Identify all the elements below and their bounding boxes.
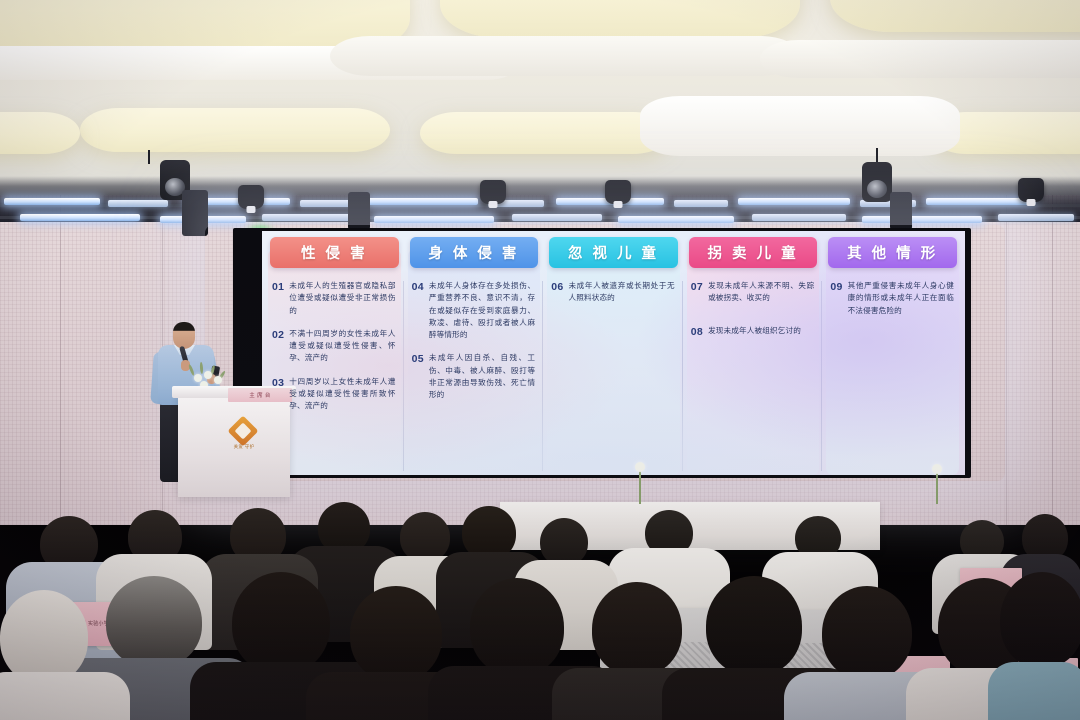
item-text: 不满十四周岁的女性未成年人遭受或疑似遭受性侵害、怀孕、流产的 xyxy=(289,328,395,365)
item-number: 05 xyxy=(412,352,424,366)
slide-item: 06 未成年人被遗弃或长期处于无人照料状态的 xyxy=(551,280,675,305)
torso xyxy=(0,672,130,720)
ceiling-rib xyxy=(760,40,1080,78)
head xyxy=(540,518,588,566)
column-header-physical-abuse: 身 体 侵 害 xyxy=(410,237,539,268)
item-text: 发现未成年人来源不明、失踪或被拐卖、收买的 xyxy=(708,280,814,305)
head xyxy=(706,576,802,676)
column-header-label: 拐 卖 儿 童 xyxy=(708,242,799,263)
spotlight-yoke xyxy=(876,148,878,162)
item-number: 01 xyxy=(272,280,284,294)
stage-spotlight xyxy=(480,180,506,204)
head xyxy=(106,576,202,668)
column-header-other: 其 他 情 形 xyxy=(828,237,957,268)
led-bar xyxy=(618,216,734,223)
item-number: 02 xyxy=(272,328,284,342)
leaf xyxy=(188,364,195,376)
presenter-head xyxy=(173,322,195,349)
item-number: 04 xyxy=(412,280,424,294)
ceiling-rib xyxy=(330,36,800,76)
head xyxy=(350,586,442,682)
item-text: 未成年人的生殖器官或隐私部位遭受或疑似遭受非正常损伤的 xyxy=(289,280,395,317)
led-bar xyxy=(374,216,494,223)
item-number: 03 xyxy=(272,376,284,390)
flower xyxy=(204,371,212,379)
slide-item: 03 十四周岁以上女性未成年人遭受或疑似遭受性侵害所致怀孕、流产的 xyxy=(272,376,396,413)
moving-head-light xyxy=(862,162,892,202)
column-header-sexual-abuse: 性 侵 害 xyxy=(270,237,399,268)
ceiling-cove-light xyxy=(830,0,1080,32)
column-header-label: 身 体 侵 害 xyxy=(428,242,519,263)
led-bar xyxy=(752,214,846,221)
column-header-neglect: 忽 视 儿 童 xyxy=(549,237,678,268)
stage-spotlight xyxy=(605,180,631,204)
head xyxy=(0,590,88,684)
head xyxy=(822,586,912,680)
item-number: 07 xyxy=(691,280,703,294)
led-bar xyxy=(4,198,100,205)
led-bar xyxy=(998,214,1074,221)
column-items: 01 未成年人的生殖器官或隐私部位遭受或疑似遭受非正常损伤的 02 不满十四周岁… xyxy=(266,268,403,413)
item-number: 09 xyxy=(830,280,842,294)
slide-item: 01 未成年人的生殖器官或隐私部位遭受或疑似遭受非正常损伤的 xyxy=(272,280,396,317)
head xyxy=(592,582,682,676)
led-bar xyxy=(20,214,140,221)
presentation-photo: 性 侵 害 01 未成年人的生殖器官或隐私部位遭受或疑似遭受非正常损伤的 02 … xyxy=(0,0,1080,720)
item-text: 发现未成年人被组织乞讨的 xyxy=(708,325,801,337)
slide-item: 04 未成年人身体存在多处损伤、严重营养不良、意识不清，存在或疑似存在受到家庭暴… xyxy=(412,280,536,341)
stage-spotlight xyxy=(1018,178,1044,202)
led-bar xyxy=(738,198,850,205)
column-header-label: 性 侵 害 xyxy=(301,242,368,263)
led-bar xyxy=(108,200,168,207)
column-header-label: 忽 视 儿 童 xyxy=(568,242,659,263)
led-bar xyxy=(674,200,728,207)
column-items: 07 发现未成年人来源不明、失踪或被拐卖、收买的 08 发现未成年人被组织乞讨的 xyxy=(685,268,822,339)
ceiling-rib xyxy=(640,96,960,156)
pa-speaker xyxy=(890,192,912,230)
item-text: 未成年人因自杀、自残、工伤、中毒、被人麻醉、殴打等非正常源由导致伤残、死亡情形的 xyxy=(429,352,535,401)
ceiling-cove-light xyxy=(440,0,800,38)
slide-item: 07 发现未成年人来源不明、失踪或被拐卖、收买的 xyxy=(691,280,815,305)
slide-item: 08 发现未成年人被组织乞讨的 xyxy=(691,325,815,339)
led-bar xyxy=(262,214,358,221)
head xyxy=(232,572,330,674)
ceiling-cove-light xyxy=(420,112,670,154)
item-number: 06 xyxy=(551,280,563,294)
ceiling-cove-light xyxy=(80,108,390,152)
flower xyxy=(214,376,222,384)
leaf xyxy=(200,362,204,374)
column-header-trafficking: 拐 卖 儿 童 xyxy=(689,237,818,268)
torso xyxy=(988,662,1080,720)
column-items: 09 其他严重侵害未成年人身心健康的情形或未成年人正在面临不法侵害危险的 xyxy=(824,268,961,317)
head xyxy=(470,578,564,676)
item-text: 十四周岁以上女性未成年人遭受或疑似遭受性侵害所致怀孕、流产的 xyxy=(289,376,395,413)
pa-speaker xyxy=(182,190,208,236)
spotlight-yoke xyxy=(148,150,150,164)
pa-speaker xyxy=(348,192,370,230)
item-number: 08 xyxy=(691,325,703,339)
head xyxy=(1000,572,1080,668)
led-bar xyxy=(368,198,478,205)
item-text: 未成年人被遗弃或长期处于无人照料状态的 xyxy=(568,280,674,305)
ceiling-cove-light xyxy=(0,112,80,154)
column-items: 04 未成年人身体存在多处损伤、严重营养不良、意识不清，存在或疑似存在受到家庭暴… xyxy=(406,268,543,402)
led-bar xyxy=(862,216,982,223)
head xyxy=(400,512,450,562)
led-bar xyxy=(512,214,602,221)
audience: 县 实验小学 城关小学 新城区实验学校 新城实验学校小学部 xyxy=(0,390,1080,720)
item-text: 未成年人身体存在多处损伤、严重营养不良、意识不清，存在或疑似存在受到家庭暴力、欺… xyxy=(429,280,535,341)
slide-item: 05 未成年人因自杀、自残、工伤、中毒、被人麻醉、殴打等非正常源由导致伤残、死亡… xyxy=(412,352,536,401)
column-items: 06 未成年人被遗弃或长期处于无人照料状态的 xyxy=(545,268,682,305)
slide-item: 09 其他严重侵害未成年人身心健康的情形或未成年人正在面临不法侵害危险的 xyxy=(830,280,954,317)
item-text: 其他严重侵害未成年人身心健康的情形或未成年人正在面临不法侵害危险的 xyxy=(848,280,954,317)
column-header-label: 其 他 情 形 xyxy=(847,242,938,263)
slide-item: 02 不满十四周岁的女性未成年人遭受或疑似遭受性侵害、怀孕、流产的 xyxy=(272,328,396,365)
stage-spotlight xyxy=(238,185,264,209)
